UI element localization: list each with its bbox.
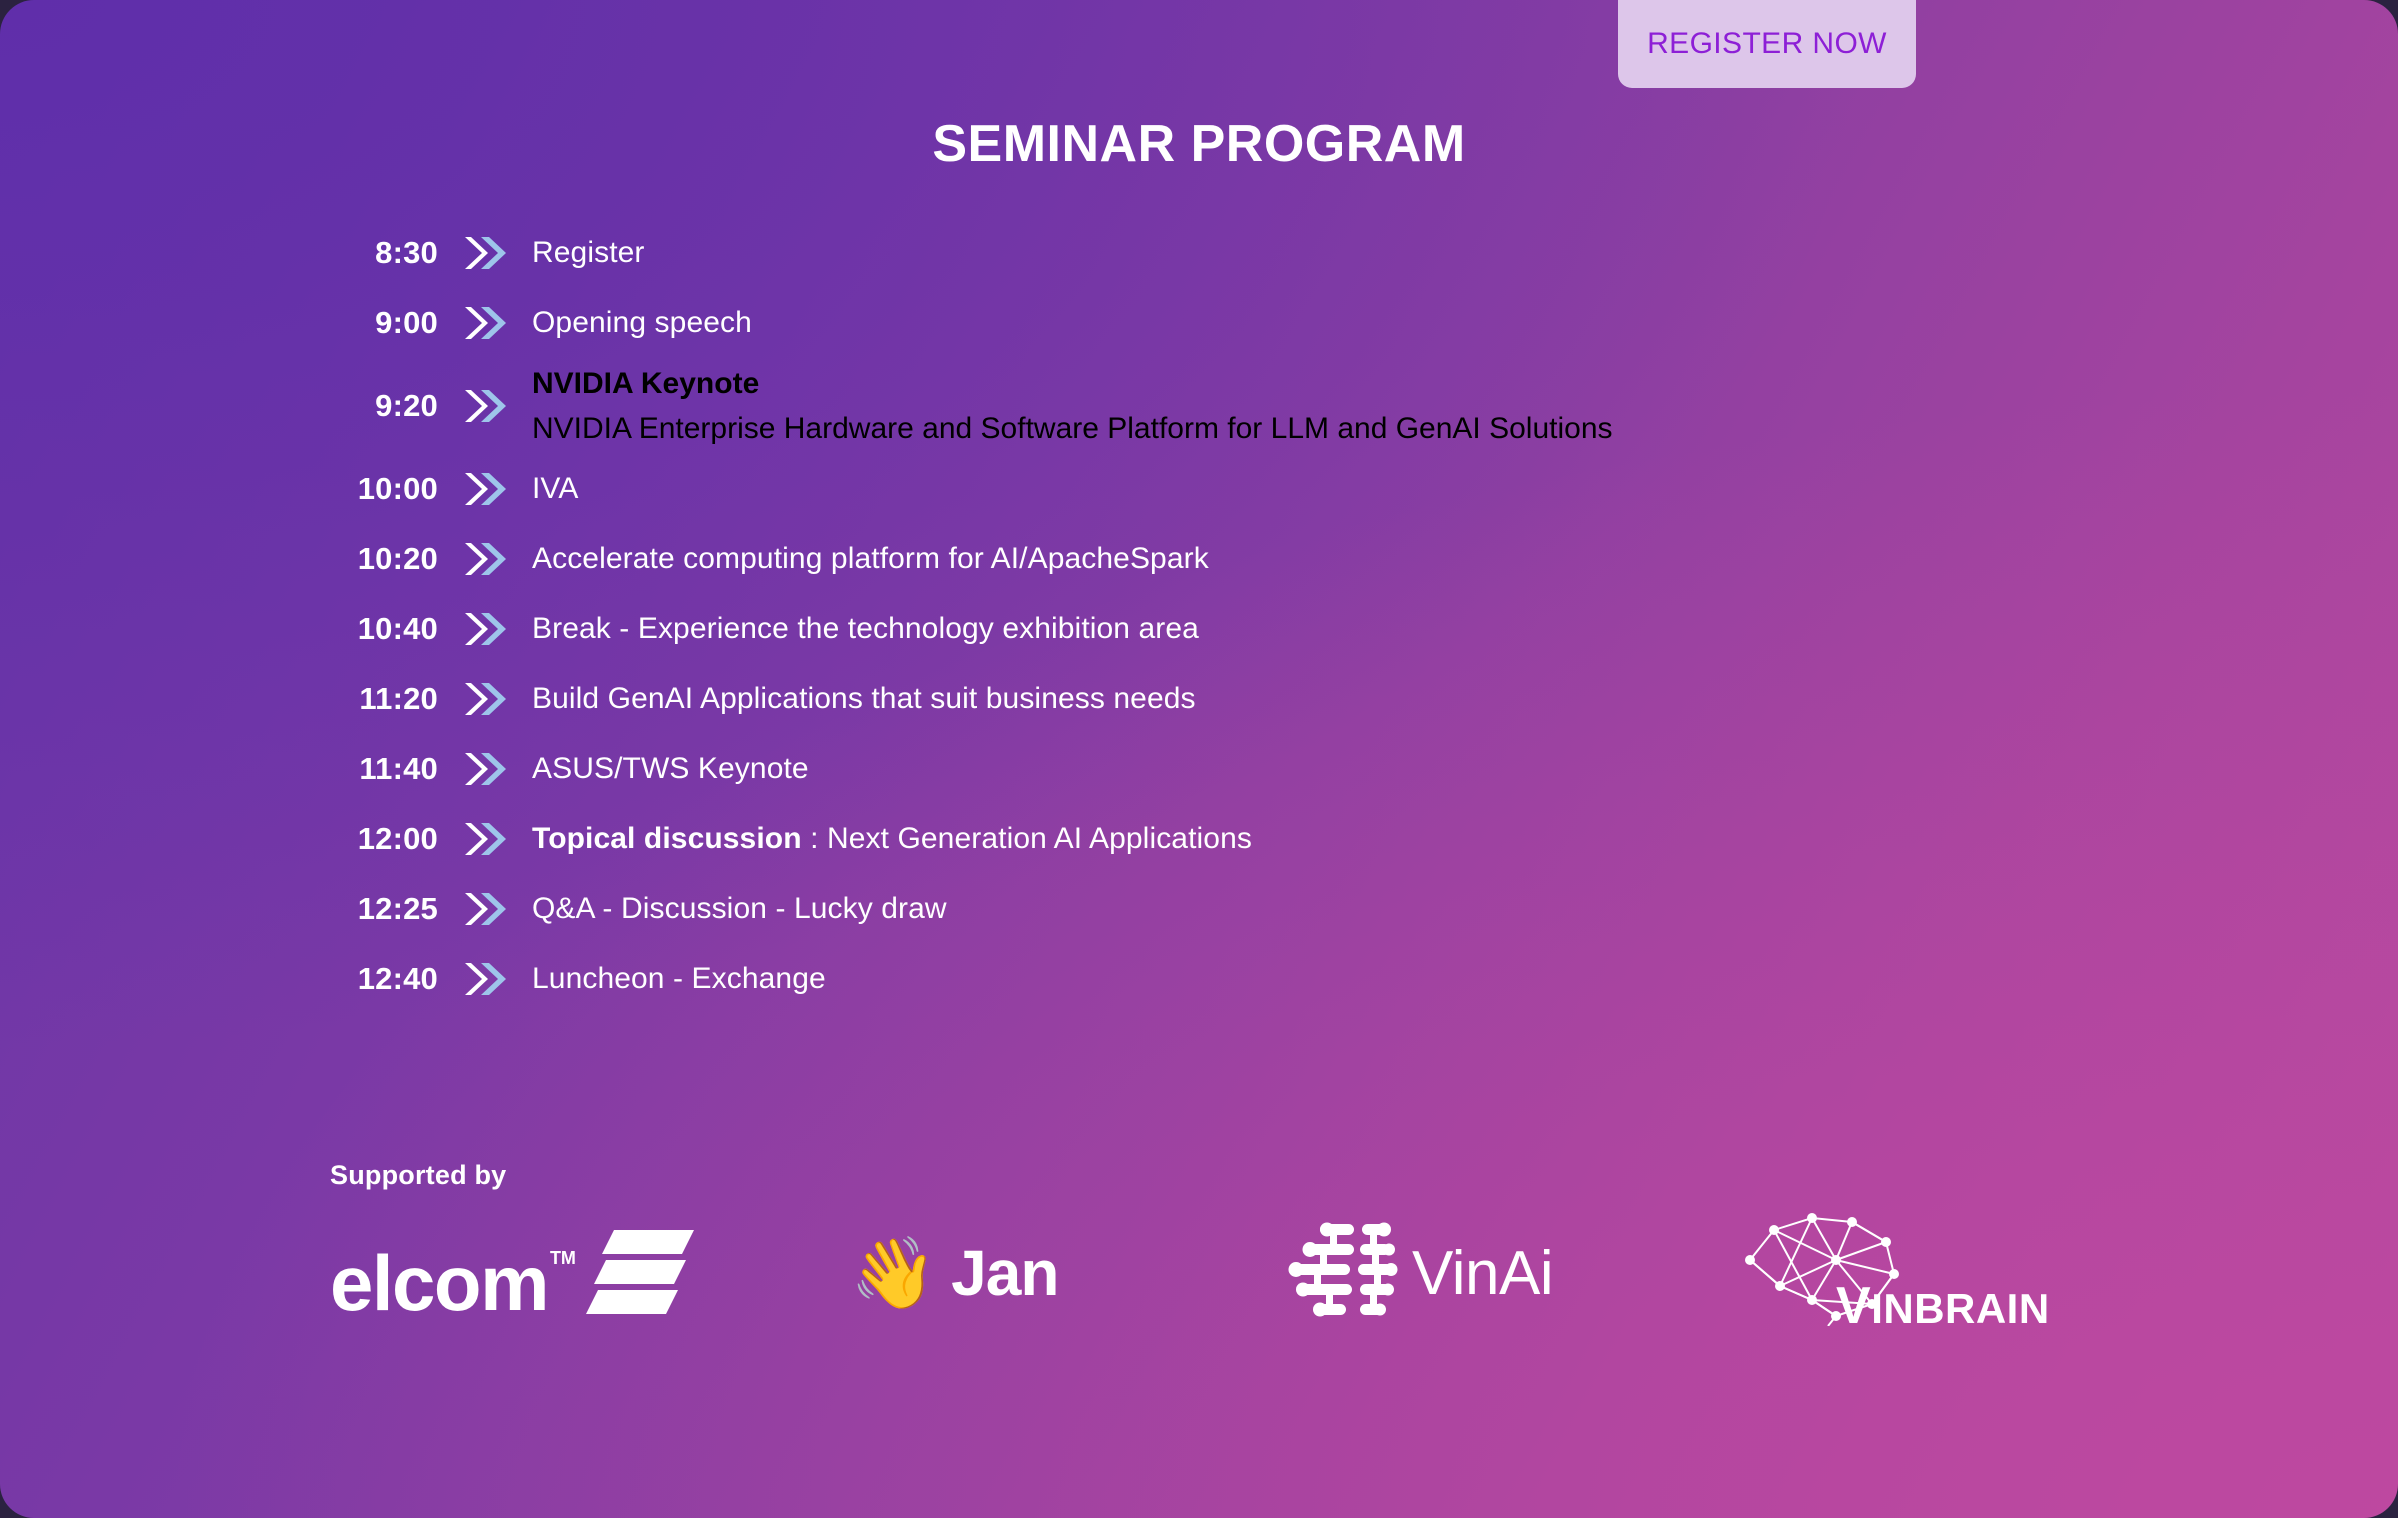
agenda-row-body: Accelerate computing platform for AI/Apa…: [532, 539, 1209, 580]
agenda-row-body: Build GenAI Applications that suit busin…: [532, 679, 1196, 720]
vinbrain-word-cap: V: [1836, 1277, 1871, 1335]
agenda-row-time: 9:20: [330, 388, 438, 424]
elcom-wordmark: elcom: [330, 1248, 548, 1318]
agenda-row-time: 9:00: [330, 305, 438, 341]
agenda-row-time: 10:00: [330, 471, 438, 507]
agenda-row: 8:30Register: [330, 218, 2110, 288]
agenda-row-text: Topical discussion : Next Generation AI …: [532, 819, 1252, 860]
agenda-row-time: 11:20: [330, 681, 438, 717]
vinai-wordmark: VinAi: [1412, 1238, 1553, 1309]
agenda-row-text-rest: : Next Generation AI Applications: [802, 822, 1252, 855]
double-chevron-icon: [462, 470, 524, 508]
vinbrain-wordmark: VINBRAIN: [1836, 1280, 2050, 1332]
agenda-row: 11:40ASUS/TWS Keynote: [330, 734, 2110, 804]
agenda-row-text: Break - Experience the technology exhibi…: [532, 609, 1199, 650]
double-chevron-icon: [462, 610, 524, 648]
double-chevron-icon: [462, 387, 524, 425]
seminar-program-poster: REGISTER NOW SEMINAR PROGRAM 8:30Registe…: [0, 0, 2398, 1518]
agenda-row: 11:20Build GenAI Applications that suit …: [330, 664, 2110, 734]
agenda-row: 9:00Opening speech: [330, 288, 2110, 358]
agenda-row: 10:20Accelerate computing platform for A…: [330, 524, 2110, 594]
agenda-row-body: Opening speech: [532, 303, 752, 344]
agenda-row-text: Build GenAI Applications that suit busin…: [532, 679, 1196, 720]
agenda-row-text: Luncheon - Exchange: [532, 959, 826, 1000]
register-now-button[interactable]: REGISTER NOW: [1618, 0, 1916, 88]
agenda-row-body: Break - Experience the technology exhibi…: [532, 609, 1199, 650]
agenda-row-time: 8:30: [330, 235, 438, 271]
agenda-row: 9:20NVIDIA KeynoteNVIDIA Enterprise Hard…: [330, 358, 2110, 454]
agenda-row: 10:40Break - Experience the technology e…: [330, 594, 2110, 664]
agenda-row-text: Opening speech: [532, 303, 752, 344]
waving-hand-icon: 👋: [850, 1238, 937, 1308]
jan-wordmark: Jan: [951, 1236, 1058, 1310]
agenda-row-body: Luncheon - Exchange: [532, 959, 826, 1000]
agenda-row-text: IVA: [532, 469, 578, 510]
double-chevron-icon: [462, 890, 524, 928]
agenda-row-title: NVIDIA Keynote: [532, 364, 1613, 403]
agenda-row-text: Register: [532, 233, 645, 274]
elcom-trademark-symbol: TM: [550, 1249, 576, 1267]
double-chevron-icon: [462, 960, 524, 998]
double-chevron-icon: [462, 234, 524, 272]
agenda-row-subtitle: NVIDIA Enterprise Hardware and Software …: [532, 409, 1613, 448]
agenda-row-body: Topical discussion : Next Generation AI …: [532, 819, 1252, 860]
agenda-row-text: Q&A - Discussion - Lucky draw: [532, 889, 947, 930]
agenda-row-text: ASUS/TWS Keynote: [532, 749, 809, 790]
sponsor-logo-elcom[interactable]: elcom TM: [330, 1219, 850, 1327]
agenda-row-text: Accelerate computing platform for AI/Apa…: [532, 539, 1209, 580]
agenda-row-body: Q&A - Discussion - Lucky draw: [532, 889, 947, 930]
sponsor-logo-jan[interactable]: 👋 Jan: [850, 1219, 1280, 1327]
agenda-row: 12:40Luncheon - Exchange: [330, 944, 2110, 1014]
double-chevron-icon: [462, 304, 524, 342]
agenda-row-time: 10:40: [330, 611, 438, 647]
double-chevron-icon: [462, 820, 524, 858]
vinbrain-word-rest: INBRAIN: [1871, 1285, 2050, 1332]
agenda-row-body: ASUS/TWS Keynote: [532, 749, 809, 790]
page-title: SEMINAR PROGRAM: [0, 114, 2398, 174]
supported-by-label: Supported by: [330, 1160, 2210, 1191]
agenda-row-time: 12:40: [330, 961, 438, 997]
agenda-row-time: 11:40: [330, 751, 438, 787]
agenda-row: 10:00IVA: [330, 454, 2110, 524]
sponsors-section: Supported by elcom TM: [330, 1160, 2210, 1327]
agenda-row-body: IVA: [532, 469, 578, 510]
agenda-row-time: 12:00: [330, 821, 438, 857]
sponsor-logo-vinbrain[interactable]: VINBRAIN: [1740, 1219, 2170, 1327]
elcom-e-mark-icon: [586, 1228, 696, 1319]
vinai-neural-mark-icon: [1280, 1218, 1398, 1329]
agenda-row: 12:25Q&A - Discussion - Lucky draw: [330, 874, 2110, 944]
register-button-container: REGISTER NOW: [1618, 0, 1916, 88]
sponsor-logo-row: elcom TM 👋 Jan: [330, 1219, 2210, 1327]
agenda-list: 8:30Register9:00Opening speech9:20NVIDIA…: [330, 218, 2110, 1014]
agenda-row-time: 12:25: [330, 891, 438, 927]
agenda-row: 12:00Topical discussion : Next Generatio…: [330, 804, 2110, 874]
agenda-row-time: 10:20: [330, 541, 438, 577]
sponsor-logo-vinai[interactable]: VinAi: [1280, 1219, 1740, 1327]
agenda-row-text-bold: Topical discussion: [532, 822, 802, 855]
double-chevron-icon: [462, 680, 524, 718]
double-chevron-icon: [462, 540, 524, 578]
agenda-row-body: NVIDIA KeynoteNVIDIA Enterprise Hardware…: [532, 364, 1613, 448]
agenda-row-body: Register: [532, 233, 645, 274]
double-chevron-icon: [462, 750, 524, 788]
